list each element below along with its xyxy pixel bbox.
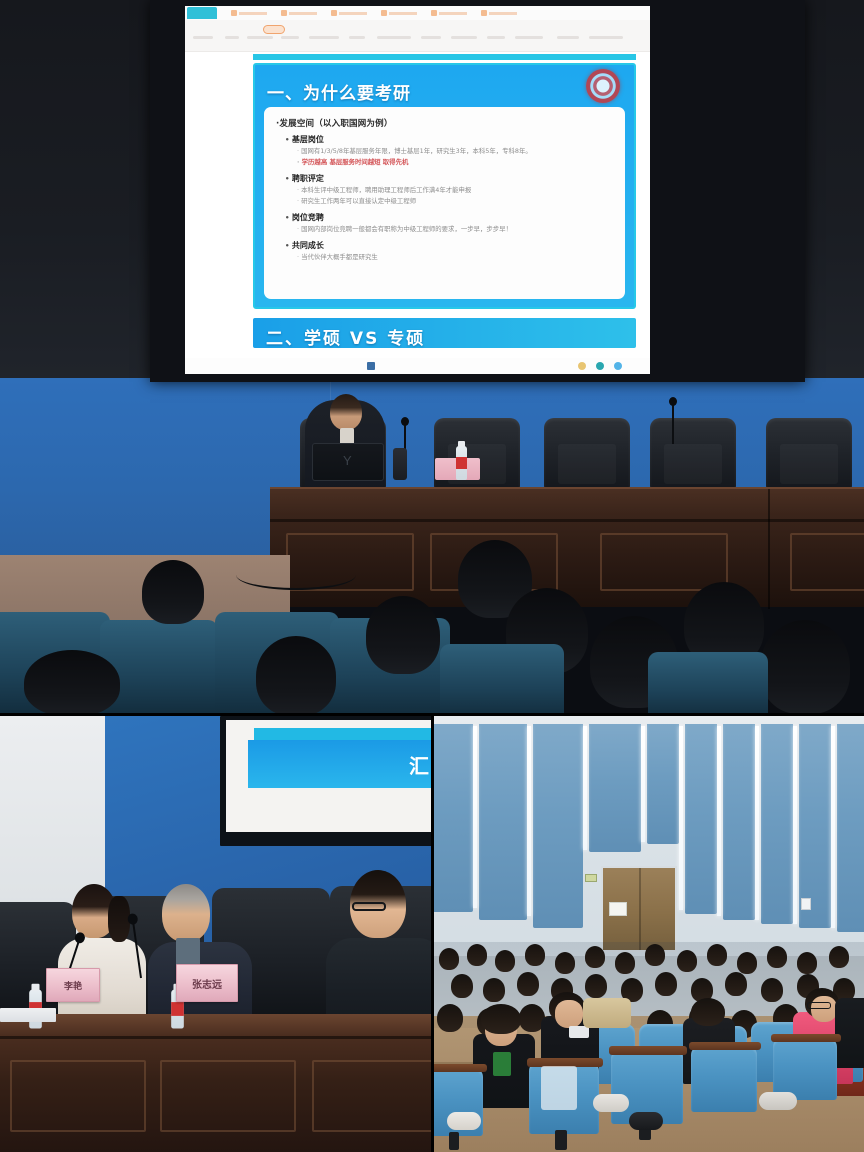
tab-label-blur (289, 12, 317, 15)
nameplate: 李艳 (46, 968, 100, 1002)
slide-editing-canvas: 一、为什么要考研 ·发展空间（以入职国网为例） 基层岗位 国网有1/3/5/8年… (185, 52, 650, 358)
slide-section-label: 岗位竞聘 (285, 212, 614, 223)
podium-table (270, 487, 864, 607)
slide-section-label: 基层岗位 (285, 134, 614, 145)
slide-deck: 一、为什么要考研 ·发展空间（以入职国网为例） 基层岗位 国网有1/3/5/8年… (253, 54, 636, 354)
acoustic-panel (533, 724, 583, 928)
empty-chair (650, 418, 736, 490)
phone-icon (569, 1026, 589, 1038)
slide-heading: 一、为什么要考研 (267, 79, 411, 104)
led-strip (755, 726, 759, 920)
audience-head (517, 972, 539, 996)
audience-head (645, 944, 665, 966)
slide-section-line-highlight: 学历越高 基层服务时间越短 取得先机 (297, 158, 614, 168)
tab-icon (381, 10, 387, 16)
panel-head-table (0, 1014, 432, 1152)
ribbon-control (193, 36, 213, 39)
acoustic-panel (589, 724, 641, 852)
ribbon-control (225, 36, 239, 39)
audience-head (797, 952, 817, 974)
audience-head-silhouette (366, 596, 440, 674)
acoustic-panel (433, 724, 473, 912)
wps-active-tab[interactable] (187, 7, 217, 19)
led-strip (641, 726, 645, 842)
audience-head (525, 944, 545, 966)
tab-label-blur (239, 12, 267, 15)
photo-divider-vertical (431, 716, 434, 1152)
audience-head (585, 974, 607, 998)
slide-section-line: 本科生评中级工程师，聘用助理工程师后工作满4年才能申报 (297, 186, 614, 196)
audience-head (451, 974, 473, 998)
audience-head (725, 972, 747, 996)
start-icon[interactable] (367, 362, 375, 370)
shoe (759, 1092, 797, 1110)
wps-ribbon-toolbar[interactable] (185, 20, 650, 52)
door-notice (609, 902, 627, 916)
table-front-panel (600, 533, 728, 591)
ribbon-control (589, 36, 623, 39)
acoustic-panel (723, 724, 755, 920)
wps-tab-insert[interactable] (281, 10, 317, 16)
tab-icon (331, 10, 337, 16)
nameplate: 张志远 (176, 964, 238, 1002)
tab-label-blur (389, 12, 417, 15)
microphone-icon (672, 404, 674, 444)
audience-head (615, 952, 635, 974)
student-audience-photo (433, 716, 864, 1152)
panel-projected-slide: 汇报 (226, 720, 432, 832)
ribbon-highlight-pill (263, 25, 285, 34)
shoe (629, 1112, 663, 1130)
glasses-icon (352, 902, 386, 911)
document-sheet (0, 1008, 56, 1022)
slide-content-card: ·发展空间（以入职国网为例） 基层岗位 国网有1/3/5/8年基层服务年限，博士… (264, 107, 625, 299)
panelist-head (162, 884, 210, 942)
shoe (593, 1094, 629, 1112)
audience-head (439, 948, 459, 970)
slide-lead-line: ·发展空间（以入职国网为例） (276, 117, 614, 129)
seat-leg (449, 1132, 459, 1150)
glasses-icon (807, 1002, 831, 1009)
seat-armrest (433, 1064, 487, 1072)
water-bottle (456, 446, 467, 480)
audience-head (737, 952, 757, 974)
ribbon-control (487, 36, 505, 39)
shoe (583, 998, 631, 1028)
seat-armrest (609, 1046, 687, 1055)
student-hair (481, 1004, 521, 1034)
projection-screen-frame: 一、为什么要考研 ·发展空间（以入职国网为例） 基层岗位 国网有1/3/5/8年… (150, 0, 805, 382)
university-emblem-icon (586, 69, 620, 103)
edge-icon[interactable] (614, 362, 622, 370)
ribbon-control (515, 36, 543, 39)
audience-head (467, 944, 487, 966)
audience-head (437, 1004, 463, 1032)
tab-label-blur (439, 12, 467, 15)
audience-head (829, 946, 849, 968)
ribbon-control (421, 36, 441, 39)
seat-leg (555, 1130, 567, 1150)
earphone-cable (541, 1066, 577, 1110)
auditorium-seat (773, 1038, 837, 1100)
audience-seat (648, 652, 768, 713)
wps-tab-animation[interactable] (431, 10, 467, 16)
acoustic-panel (685, 724, 717, 914)
panel-discussion-photo: 汇报 李艳 张志远 (0, 716, 432, 1152)
table-front-panel (312, 1060, 432, 1132)
tab-icon (481, 10, 487, 16)
wall-sign (801, 898, 811, 910)
slide-section-label: 共同成长 (285, 240, 614, 251)
audience-head (585, 946, 605, 968)
audience-head-silhouette (142, 560, 204, 624)
table-front-panel (10, 1060, 146, 1132)
led-strip (473, 726, 477, 908)
empty-chair (766, 418, 852, 490)
led-strip (679, 726, 683, 910)
wps-tab-slideshow[interactable] (481, 10, 517, 16)
stage-presentation-photo: 一、为什么要考研 ·发展空间（以入职国网为例） 基层岗位 国网有1/3/5/8年… (0, 0, 864, 713)
audience-head-silhouette (256, 636, 336, 713)
acoustic-panel (479, 724, 527, 920)
os-taskbar[interactable] (185, 358, 650, 374)
wps-tab-design[interactable] (331, 10, 367, 16)
ribbon-control (377, 36, 411, 39)
audience-head (707, 944, 727, 966)
acoustic-panel (761, 724, 793, 924)
led-strip (583, 726, 587, 850)
slide-top-accent-bar (253, 54, 636, 60)
table-front-panel (790, 533, 864, 591)
tab-label-blur (489, 12, 517, 15)
audience-head (677, 950, 697, 972)
tab-label-blur (339, 12, 367, 15)
audience-head (483, 978, 505, 1002)
wps-tab-transition[interactable] (381, 10, 417, 16)
presenter-head (330, 394, 362, 430)
audience-head (767, 946, 787, 968)
tshirt-graphic (493, 1052, 511, 1076)
exit-sign-icon (585, 874, 597, 882)
ribbon-control (247, 36, 273, 39)
ribbon-control (557, 36, 579, 39)
shoe (447, 1112, 481, 1130)
slide-section-line: 国网有1/3/5/8年基层服务年限，博士基层1年，研究生3年，本科5年，专科8年… (297, 147, 614, 157)
tab-icon (281, 10, 287, 16)
led-strip (831, 726, 835, 928)
tab-icon (431, 10, 437, 16)
table-front-panel (160, 1060, 296, 1132)
audience-head (655, 972, 677, 996)
slide-section-line: 当代伙伴大概手都是研究生 (297, 253, 614, 263)
audience-head (761, 978, 783, 1002)
projected-desktop: 一、为什么要考研 ·发展空间（以入职国网为例） 基层岗位 国网有1/3/5/8年… (185, 6, 650, 374)
audience-head-silhouette (24, 650, 120, 713)
student-torso (835, 998, 864, 1068)
slide-section-line: 国网内部岗位竞聘一般都会有职称为中级工程师的要求，一步早，步步早！ (297, 225, 614, 235)
empty-chair (544, 418, 630, 490)
slide-footer-heading-block: 二、学硕 VS 专硕 (253, 318, 636, 348)
ribbon-control (349, 36, 365, 39)
audience-head (495, 950, 515, 972)
student-face (555, 1000, 583, 1028)
panel-slide-title: 汇报 (409, 750, 432, 779)
slide-main-block: 一、为什么要考研 ·发展空间（以入职国网为例） 基层岗位 国网有1/3/5/8年… (253, 63, 636, 309)
panel-projection-frame: 汇报 (220, 716, 432, 846)
folder-icon[interactable] (578, 362, 586, 370)
tab-icon (231, 10, 237, 16)
acoustic-panel (837, 724, 864, 932)
floor-cable (236, 560, 356, 590)
ribbon-control (281, 36, 299, 39)
slide-section-line: 研究生工作两年可以直接认定中级工程师 (297, 197, 614, 207)
presenter-laptop (312, 443, 384, 481)
audience-seat (440, 644, 564, 713)
table-seam (768, 489, 770, 609)
audience-head (555, 952, 575, 974)
slide-footer-heading: 二、学硕 VS 专硕 (266, 324, 425, 349)
seat-armrest (689, 1042, 761, 1050)
audience-head-silhouette (760, 620, 850, 713)
acoustic-panel (647, 724, 679, 844)
thermos-flask (393, 448, 407, 480)
slide-section-label: 聘职评定 (285, 173, 614, 184)
auditorium-seat (691, 1046, 757, 1112)
led-strip (527, 726, 531, 916)
led-strip (717, 726, 721, 916)
student-face (811, 996, 837, 1022)
student-hair (691, 998, 725, 1026)
audience-seat (100, 620, 218, 713)
ribbon-control (309, 36, 339, 39)
panel-slide-title-block: 汇报 (248, 740, 432, 788)
wps-tab-bar[interactable] (185, 6, 650, 20)
led-strip (793, 726, 797, 924)
ribbon-control (451, 36, 477, 39)
wps-tab-start[interactable] (231, 10, 267, 16)
seat-armrest (771, 1034, 841, 1042)
browser-icon[interactable] (596, 362, 604, 370)
